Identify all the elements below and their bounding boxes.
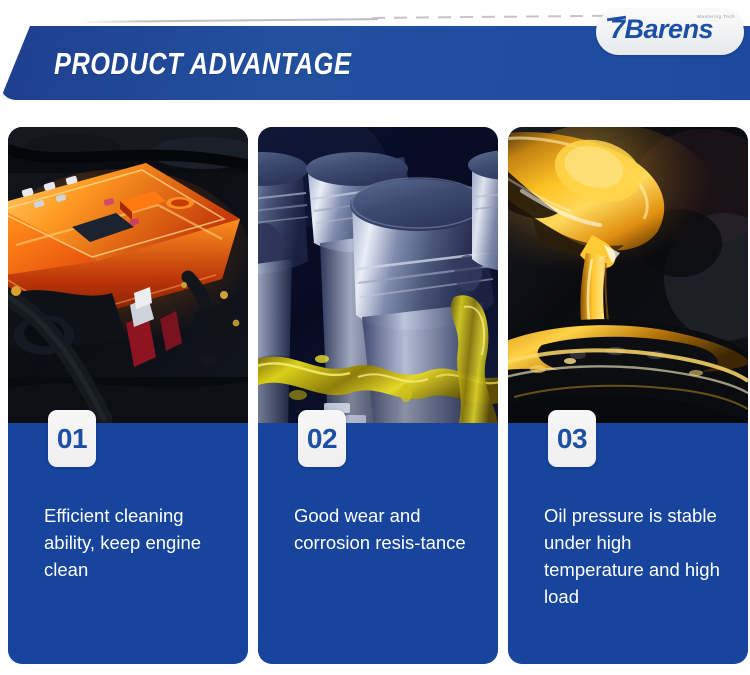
header-guide-line-solid [78,18,378,23]
card-photo-engine [8,127,248,435]
advantage-card[interactable]: 02 Good wear and corrosion resis-tance [258,127,498,664]
card-description: Oil pressure is stable under high temper… [544,502,729,610]
advantage-card[interactable]: 01 Efficient cleaning ability, keep engi… [8,127,248,664]
brand-name: 7Barens [610,14,713,45]
advantage-card[interactable]: 03 Oil pressure is stable under high tem… [508,127,748,664]
card-number-badge: 02 [298,410,346,467]
card-number: 02 [307,425,337,453]
card-number: 03 [557,425,587,453]
page-title: PRODUCT ADVANTAGE [54,46,351,82]
brand-monogram-icon: 7 [610,14,625,45]
card-photo-oil-pour [508,127,748,435]
card-description: Good wear and corrosion resis-tance [294,502,479,556]
advantage-card-list: 01 Efficient cleaning ability, keep engi… [8,127,748,664]
page-header: PRODUCT ADVANTAGE Mastering Tech 7Barens [0,0,750,110]
card-photo-pistons [258,127,498,435]
card-number: 01 [57,425,87,453]
card-description: Efficient cleaning ability, keep engine … [44,502,229,583]
card-number-badge: 01 [48,410,96,467]
brand-wordmark: Barens [625,14,714,44]
brand-logo[interactable]: Mastering Tech 7Barens [596,9,744,55]
card-number-badge: 03 [548,410,596,467]
